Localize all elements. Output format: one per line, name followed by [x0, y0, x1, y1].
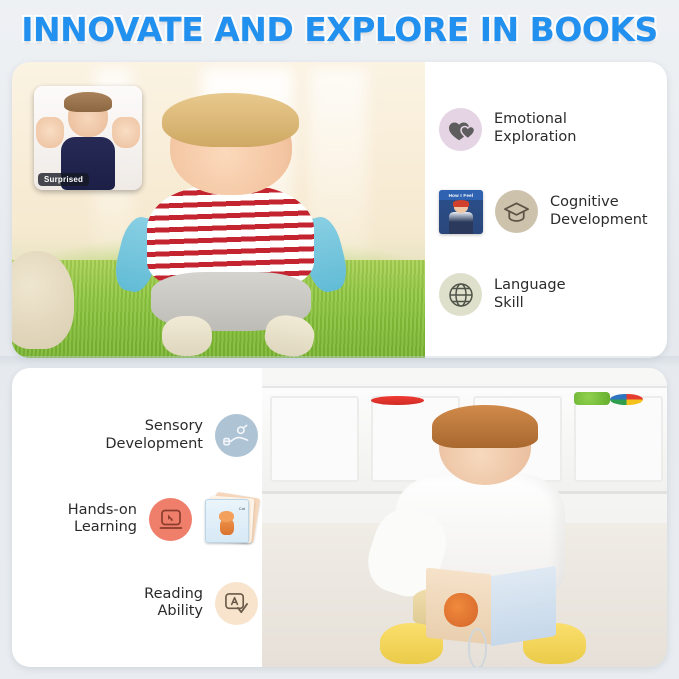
- feature-label-line1: Cognitive: [550, 194, 648, 212]
- page-title-bar: INNOVATE AND EXPLORE IN BOOKS: [0, 0, 679, 58]
- toddler-reading-book-photo: [262, 368, 667, 667]
- hearts-icon: [439, 108, 482, 151]
- feature-label: Hands-on Learning: [68, 502, 137, 537]
- girl-hand-left: [36, 117, 64, 148]
- book-page-right: [491, 565, 556, 646]
- girl-hair: [64, 92, 111, 112]
- feature-label: Reading Ability: [144, 586, 203, 621]
- top-feature-list: Emotional Exploration How I Feel: [425, 62, 667, 358]
- baby-figure: [136, 98, 326, 347]
- shelf-cubby: [270, 396, 359, 482]
- feature-item-cognitive-development[interactable]: How I Feel Cognitive Development: [439, 190, 653, 234]
- feature-item-reading-ability[interactable]: Reading Ability: [22, 582, 258, 625]
- open-board-book: [426, 571, 557, 641]
- girl-hand-right: [112, 117, 140, 148]
- feature-label-line2: Development: [550, 212, 648, 230]
- playroom-background: [262, 368, 667, 667]
- bottom-panel: Sensory Development Cat: [12, 368, 667, 667]
- green-toy: [574, 392, 610, 405]
- flashcard-front: Cat: [205, 499, 249, 544]
- book-character-hair: [453, 200, 470, 207]
- flashcard-label: Cat: [239, 506, 245, 511]
- globe-icon: [439, 273, 482, 316]
- bottom-feature-list: Sensory Development Cat: [12, 368, 274, 667]
- how-i-feel-book-thumbnail[interactable]: How I Feel: [439, 190, 483, 234]
- feature-label: Sensory Development: [105, 418, 203, 453]
- feature-item-hands-on-learning[interactable]: Cat Hands-on Learning: [22, 493, 258, 545]
- feature-label-line2: Learning: [68, 519, 137, 537]
- feature-label-line1: Emotional: [494, 111, 576, 129]
- cursor-click-icon: [149, 498, 192, 541]
- book-illustration: [444, 593, 478, 627]
- feature-label-line2: Development: [105, 436, 203, 454]
- baby-sock-left: [162, 316, 211, 356]
- surprised-girl-card: Surprised: [34, 86, 142, 190]
- page-title: INNOVATE AND EXPLORE IN BOOKS: [21, 10, 658, 49]
- panel-divider: [0, 356, 679, 368]
- book-character-body: [449, 212, 474, 234]
- baby-hair: [162, 93, 299, 148]
- feature-label-line2: Skill: [494, 295, 566, 313]
- feature-label-line1: Language: [494, 277, 566, 295]
- top-panel: Surprised Emotional Exploration: [12, 62, 667, 358]
- plush-toy: [12, 251, 74, 349]
- cat-flashcards-thumbnail[interactable]: Cat: [204, 493, 258, 545]
- book-title-bar: How I Feel: [439, 190, 483, 200]
- hand-touch-icon: [215, 414, 258, 457]
- feature-label: Emotional Exploration: [494, 111, 576, 146]
- book-ring: [468, 628, 487, 667]
- inset-caption: Surprised: [38, 173, 89, 186]
- feature-label: Cognitive Development: [550, 194, 648, 229]
- laughing-baby-on-green-rug-photo: Surprised: [12, 62, 425, 358]
- feature-item-sensory-development[interactable]: Sensory Development: [22, 414, 258, 457]
- promo-page: INNOVATE AND EXPLORE IN BOOKS: [0, 0, 679, 679]
- feature-item-emotional-exploration[interactable]: Emotional Exploration: [439, 108, 653, 151]
- toddler-figure: [375, 410, 586, 661]
- shelf-cubby: [574, 396, 663, 482]
- cat-head: [219, 511, 234, 522]
- feature-label: Language Skill: [494, 277, 566, 312]
- graduation-cap-icon: [495, 190, 538, 233]
- feature-label-line1: Reading: [144, 586, 203, 604]
- letter-a-check-icon: [215, 582, 258, 625]
- feature-label-line1: Sensory: [105, 418, 203, 436]
- feature-label-line1: Hands-on: [68, 502, 137, 520]
- toddler-hair: [432, 405, 537, 448]
- feature-label-line2: Ability: [144, 603, 203, 621]
- book-title: How I Feel: [449, 193, 474, 198]
- feature-label-line2: Exploration: [494, 129, 576, 147]
- feature-item-language-skill[interactable]: Language Skill: [439, 273, 653, 316]
